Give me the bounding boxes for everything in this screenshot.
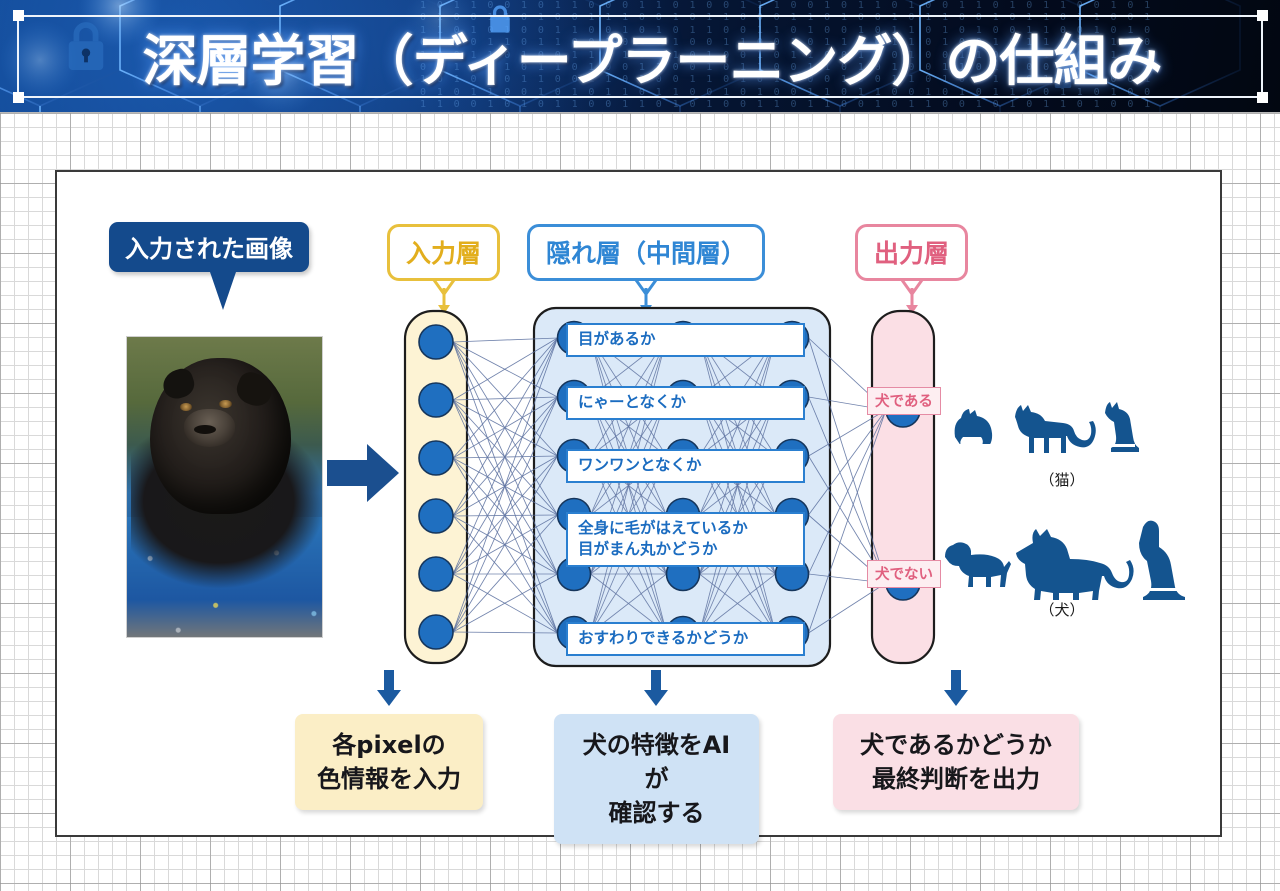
hidden-feature-label: 目があるか bbox=[566, 323, 805, 357]
summary-box-hidden: 犬の特徴をAIが 確認する bbox=[554, 714, 759, 844]
diagram-panel: 入力された画像 入力層 隠れ層（中間層） 出力層 bbox=[55, 170, 1222, 837]
hidden-layer-container bbox=[534, 308, 830, 666]
input-layer-container bbox=[405, 311, 467, 663]
cat-silhouette-icon bbox=[937, 377, 1187, 467]
output-label: 犬でない bbox=[867, 560, 941, 588]
down-arrow-icon bbox=[375, 670, 403, 706]
hidden-feature-label: 全身に毛がはえているか 目がまん丸かどうか bbox=[566, 512, 805, 567]
cat-caption: （猫） bbox=[937, 469, 1187, 490]
summary-box-input: 各pixelの 色情報を入力 bbox=[295, 714, 483, 810]
down-arrow-icon bbox=[942, 670, 970, 706]
animal-silhouettes: （猫） （犬） bbox=[937, 377, 1187, 667]
page-title: 深層学習（ディープラーニング）の仕組み bbox=[0, 0, 1280, 112]
summary-box-output: 犬であるかどうか 最終判断を出力 bbox=[833, 714, 1079, 810]
dog-caption: （犬） bbox=[937, 599, 1187, 620]
hidden-feature-label: ワンワンとなくか bbox=[566, 449, 805, 483]
dog-silhouette-icon bbox=[937, 505, 1187, 600]
hidden-feature-label: にゃーとなくか bbox=[566, 386, 805, 420]
hidden-feature-label: おすわりできるかどうか bbox=[566, 622, 805, 656]
output-layer-container bbox=[872, 311, 934, 663]
output-label: 犬である bbox=[867, 387, 941, 415]
down-arrow-icon bbox=[642, 670, 670, 706]
header-banner: 1 0 1 1 0 0 1 0 1 1 0 0 0 1 1 0 1 0 0 1 … bbox=[0, 0, 1280, 112]
